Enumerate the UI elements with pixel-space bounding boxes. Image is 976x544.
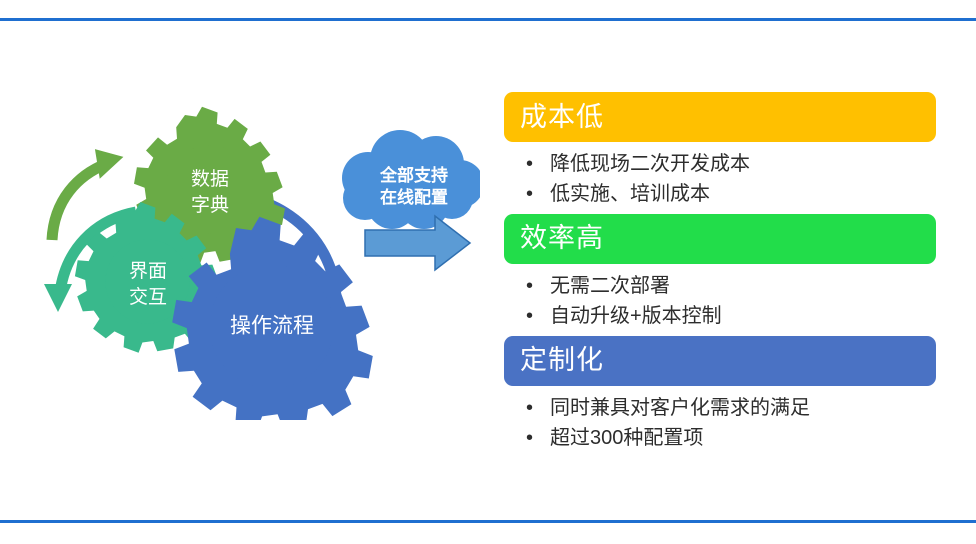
gear-label-operation: 操作流程 <box>230 315 314 338</box>
benefits-panel-list: 成本低 • 降低现场二次开发成本 • 低实施、培训成本 效率高 • <box>504 92 936 460</box>
slide-canvas: 数据 字典 界面 交互 操作流程 <box>0 0 976 544</box>
panel-efficiency: 效率高 • 无需二次部署 • 自动升级+版本控制 <box>504 214 936 336</box>
panel-header-cost[interactable]: 成本低 <box>504 92 936 142</box>
top-accent-line <box>0 18 976 21</box>
bullet-text: 同时兼具对客户化需求的满足 <box>550 397 810 419</box>
gear-label-ui-2: 交互 <box>129 286 167 308</box>
cloud-label-2: 在线配置 <box>380 187 448 207</box>
bullet-icon: • <box>526 149 533 179</box>
cloud-label-1: 全部支持 <box>379 165 448 185</box>
gears-diagram: 数据 字典 界面 交互 操作流程 <box>20 80 480 420</box>
panel-header-customization[interactable]: 定制化 <box>504 336 936 386</box>
gear-label-data-1: 数据 <box>191 168 229 190</box>
list-item: • 超过300种配置项 <box>526 423 936 453</box>
bullet-text: 降低现场二次开发成本 <box>550 153 750 175</box>
bullet-icon: • <box>526 179 533 209</box>
bullet-text: 无需二次部署 <box>550 275 670 297</box>
list-item: • 无需二次部署 <box>526 271 936 301</box>
cloud-shape: 全部支持 在线配置 <box>342 130 480 229</box>
panel-customization: 定制化 • 同时兼具对客户化需求的满足 • 超过300种配置项 <box>504 336 936 461</box>
panel-header-efficiency[interactable]: 效率高 <box>504 214 936 264</box>
panel-title-customization: 定制化 <box>520 347 604 374</box>
bottom-accent-line <box>0 520 976 523</box>
panel-cost: 成本低 • 降低现场二次开发成本 • 低实施、培训成本 <box>504 92 936 214</box>
panel-title-efficiency: 效率高 <box>520 225 604 252</box>
list-item: • 低实施、培训成本 <box>526 179 936 209</box>
bullet-text: 超过300种配置项 <box>550 427 703 449</box>
list-item: • 同时兼具对客户化需求的满足 <box>526 393 936 423</box>
bullet-text: 低实施、培训成本 <box>550 183 710 205</box>
bullet-list-customization: • 同时兼具对客户化需求的满足 • 超过300种配置项 <box>504 386 936 461</box>
gear-label-ui-1: 界面 <box>129 261 167 282</box>
bullet-list-cost: • 降低现场二次开发成本 • 低实施、培训成本 <box>504 142 936 214</box>
panel-title-cost: 成本低 <box>520 104 604 131</box>
bullet-icon: • <box>526 423 533 453</box>
list-item: • 降低现场二次开发成本 <box>526 149 936 179</box>
gear-label-data-2: 字典 <box>191 194 229 216</box>
bullet-icon: • <box>526 393 533 423</box>
list-item: • 自动升级+版本控制 <box>526 301 936 331</box>
bullet-text: 自动升级+版本控制 <box>550 305 722 327</box>
bullet-icon: • <box>526 301 533 331</box>
bullet-icon: • <box>526 271 533 301</box>
bullet-list-efficiency: • 无需二次部署 • 自动升级+版本控制 <box>504 264 936 336</box>
